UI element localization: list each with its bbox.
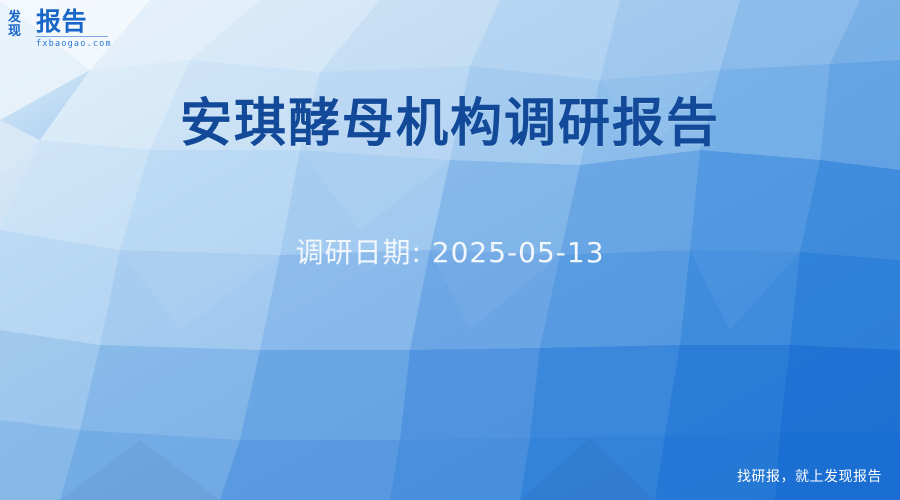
logo-text-block: 报告 fxbaogao.com (36, 8, 112, 49)
report-cover: 发 现 报告 fxbaogao.com 安琪酵母机构调研报告 调研日期: 202… (0, 0, 900, 500)
logo-mark-icon: 发 现 (8, 10, 34, 44)
logo-wordmark: 报告 (36, 8, 112, 35)
logo-url: fxbaogao.com (36, 39, 112, 49)
logo-divider (36, 36, 108, 37)
logo-mark-bottom-char: 现 (8, 24, 34, 39)
page-title: 安琪酵母机构调研报告 (0, 92, 900, 156)
site-logo[interactable]: 发 现 报告 fxbaogao.com (8, 8, 112, 56)
footer-slogan: 找研报，就上发现报告 (737, 468, 882, 486)
logo-mark-top-char: 发 (8, 10, 34, 25)
survey-date-subtitle: 调研日期: 2025-05-13 (0, 233, 900, 273)
